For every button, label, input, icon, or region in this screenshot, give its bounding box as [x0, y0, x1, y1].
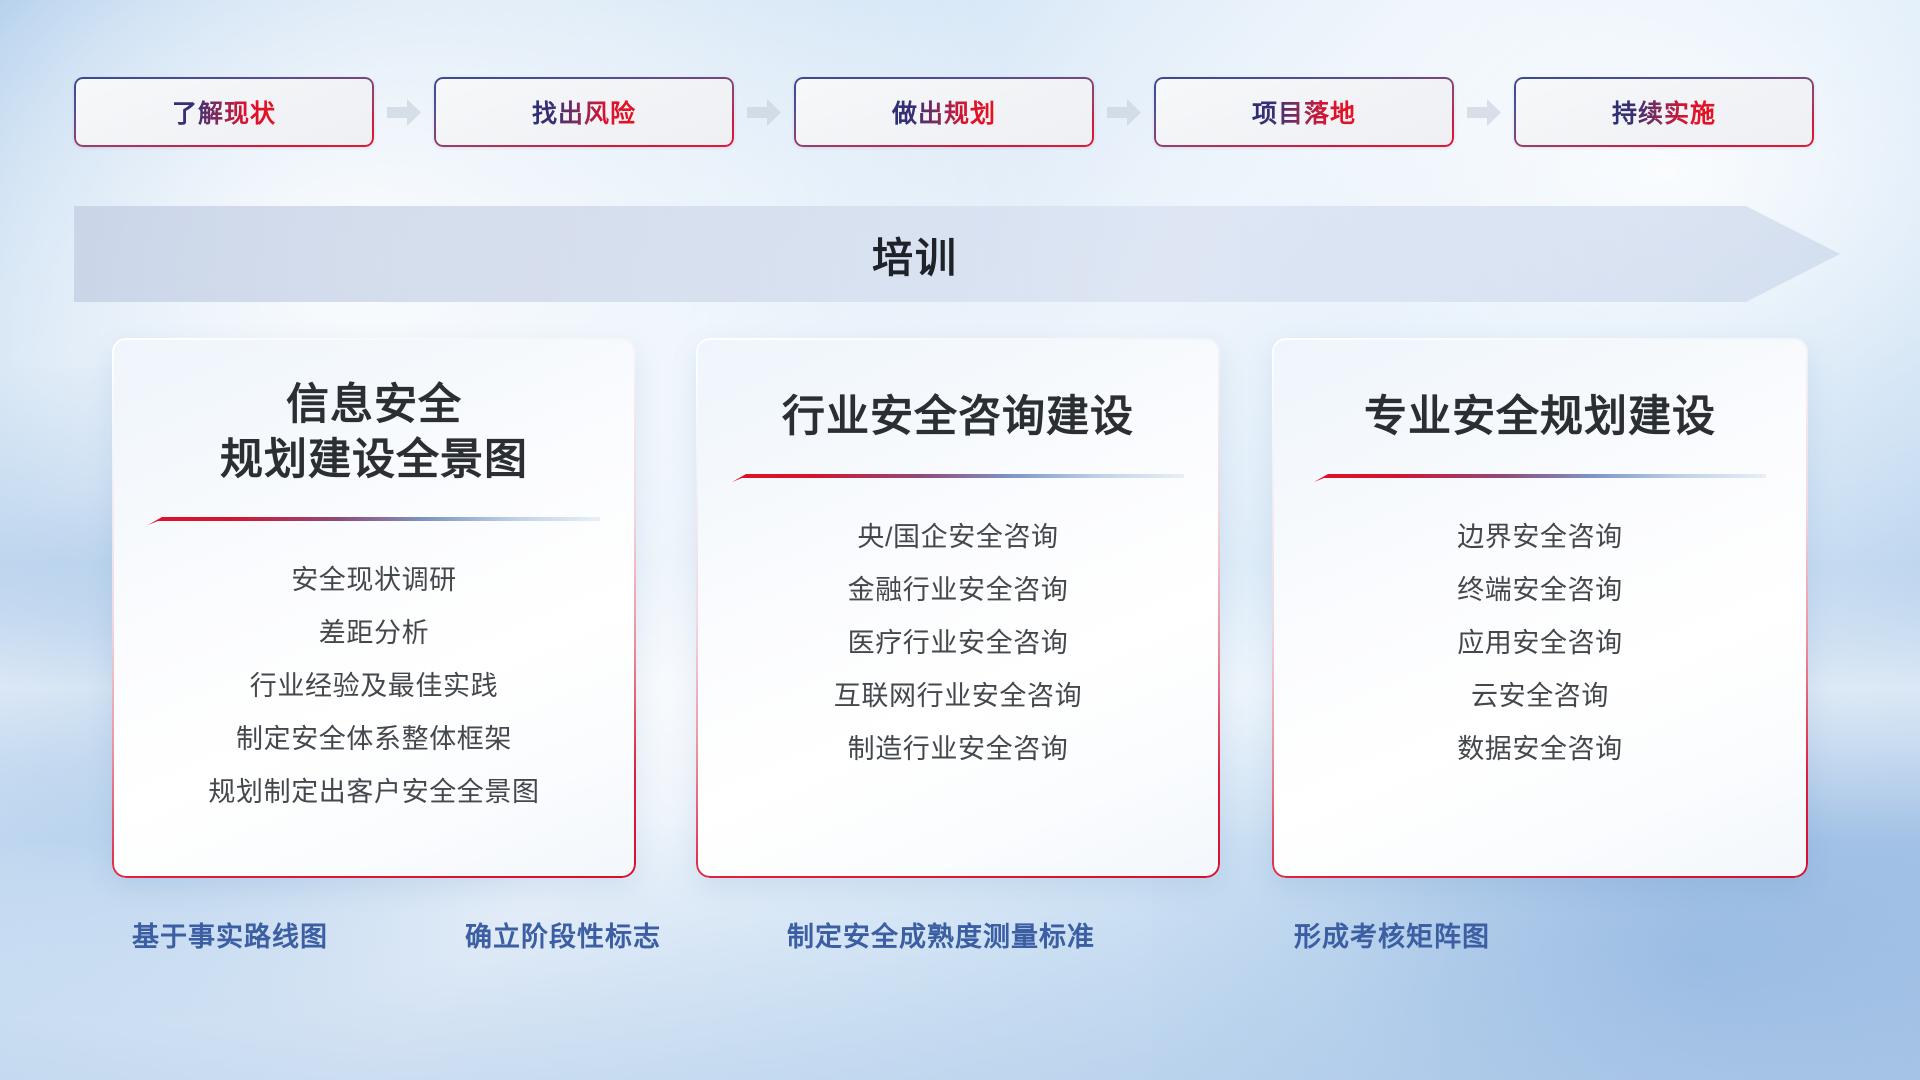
list-item: 制定安全体系整体框架: [112, 713, 636, 766]
card-2-title-line1: 行业安全咨询建设: [722, 390, 1194, 445]
step-chip-4-label: 项目落地: [1252, 94, 1356, 130]
footer-label-3: 制定安全成熟度测量标准: [787, 915, 1095, 954]
footer-label-1: 基于事实路线图: [132, 915, 328, 954]
list-item: 数据安全咨询: [1272, 723, 1808, 776]
card-3-title: 专业安全规划建设: [1272, 338, 1808, 445]
footer-label-row: 基于事实路线图 确立阶段性标志 制定安全成熟度测量标准 形成考核矩阵图: [0, 915, 1920, 963]
training-banner-label-wrap: 培训: [0, 206, 1830, 302]
list-item: 终端安全咨询: [1272, 564, 1808, 617]
card-row: 信息安全 规划建设全景图 安全现状调研 差: [0, 338, 1920, 878]
list-item: 云安全咨询: [1272, 670, 1808, 723]
card-professional-security-planning[interactable]: 专业安全规划建设 边界安全咨询 终端安全咨询: [1272, 338, 1808, 878]
step-chip-3-label: 做出规划: [892, 94, 996, 130]
footer-label-2: 确立阶段性标志: [465, 915, 661, 954]
list-item: 边界安全咨询: [1272, 511, 1808, 564]
list-item: 央/国企安全咨询: [696, 511, 1220, 564]
card-1-title-line2: 规划建设全景图: [138, 433, 610, 488]
card-2-list: 央/国企安全咨询 金融行业安全咨询 医疗行业安全咨询 互联网行业安全咨询 制造行…: [696, 511, 1220, 776]
arrow-right-icon: [1107, 99, 1141, 126]
list-item: 互联网行业安全咨询: [696, 670, 1220, 723]
list-item: 医疗行业安全咨询: [696, 617, 1220, 670]
card-industry-security-consulting[interactable]: 行业安全咨询建设 央/国企安全咨询 金融行业安全咨询: [696, 338, 1220, 878]
training-banner-label: 培训: [872, 224, 958, 284]
list-item: 规划制定出客户安全全景图: [112, 766, 636, 819]
step-chip-2[interactable]: 找出风险: [434, 77, 734, 147]
card-2-title: 行业安全咨询建设: [696, 338, 1220, 445]
card-1-title: 信息安全 规划建设全景图: [112, 338, 636, 488]
card-2-divider: [732, 471, 1184, 485]
step-chip-1-label: 了解现状: [172, 94, 276, 130]
list-item: 制造行业安全咨询: [696, 723, 1220, 776]
card-information-security[interactable]: 信息安全 规划建设全景图 安全现状调研 差: [112, 338, 636, 878]
step-chip-4[interactable]: 项目落地: [1154, 77, 1454, 147]
list-item: 金融行业安全咨询: [696, 564, 1220, 617]
step-chip-2-label: 找出风险: [532, 94, 636, 130]
arrow-right-icon: [747, 99, 781, 126]
list-item: 行业经验及最佳实践: [112, 660, 636, 713]
card-3-list: 边界安全咨询 终端安全咨询 应用安全咨询 云安全咨询 数据安全咨询: [1272, 511, 1808, 776]
card-3-title-line1: 专业安全规划建设: [1298, 390, 1782, 445]
list-item: 应用安全咨询: [1272, 617, 1808, 670]
step-chip-3[interactable]: 做出规划: [794, 77, 1094, 147]
step-chip-1[interactable]: 了解现状: [74, 77, 374, 147]
list-item: 差距分析: [112, 607, 636, 660]
process-step-flow: 了解现状 找出风险 做出规划 项目落地 持续实施: [0, 76, 1920, 148]
step-chip-5[interactable]: 持续实施: [1514, 77, 1814, 147]
arrow-right-icon: [1467, 99, 1501, 126]
card-3-divider: [1314, 471, 1766, 485]
card-1-title-line1: 信息安全: [138, 378, 610, 433]
arrow-right-icon: [387, 99, 421, 126]
list-item: 安全现状调研: [112, 554, 636, 607]
footer-label-4: 形成考核矩阵图: [1294, 915, 1490, 954]
step-chip-5-label: 持续实施: [1612, 94, 1716, 130]
card-1-divider: [148, 514, 600, 528]
card-1-list: 安全现状调研 差距分析 行业经验及最佳实践 制定安全体系整体框架 规划制定出客户…: [112, 554, 636, 819]
